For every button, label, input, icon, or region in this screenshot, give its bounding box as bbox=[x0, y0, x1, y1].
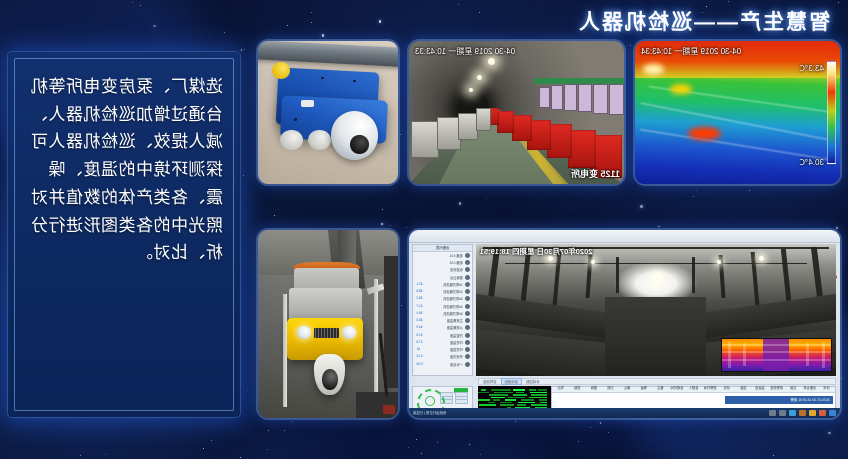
device-label: 1#带式输送机 bbox=[443, 282, 462, 287]
log-line-segment bbox=[540, 402, 547, 404]
star bbox=[401, 134, 402, 135]
temp-low-label: 30.4℃ bbox=[799, 158, 824, 167]
device-status-icon bbox=[465, 362, 470, 367]
star bbox=[224, 32, 225, 33]
log-line-segment bbox=[530, 392, 547, 394]
log-line-segment bbox=[518, 402, 535, 404]
log-line-segment bbox=[516, 392, 525, 394]
toolbar-realtime[interactable]: 手动控制 bbox=[526, 379, 540, 384]
star bbox=[728, 1, 729, 2]
log-line-segment bbox=[481, 389, 486, 391]
star bbox=[693, 196, 694, 197]
star bbox=[379, 20, 381, 22]
os-taskbar[interactable]: 系统运行正常 | 已连接 bbox=[409, 408, 840, 418]
log-line-segment bbox=[494, 392, 513, 394]
tunnel-image: 04-30 2019 星期一 10:43:33 1125 变电所 bbox=[409, 41, 624, 184]
star bbox=[390, 225, 391, 226]
sensor-grill bbox=[314, 328, 339, 338]
star bbox=[406, 227, 407, 228]
log-line-segment bbox=[521, 399, 534, 401]
log-line-segment bbox=[538, 389, 547, 391]
app-icon[interactable] bbox=[799, 410, 806, 416]
device-value: 31.5 bbox=[416, 333, 422, 337]
device-value: 27.8 bbox=[416, 340, 422, 344]
start-icon[interactable] bbox=[829, 410, 836, 416]
star bbox=[401, 305, 402, 306]
thermal-timestamp: 04-30 2019 星期一 10:43:34 bbox=[641, 46, 741, 57]
device-value: 35.2 bbox=[416, 296, 422, 300]
device-value: 48.3 bbox=[416, 318, 422, 322]
star bbox=[408, 447, 409, 448]
device-status-icon bbox=[465, 318, 470, 323]
device-status-icon bbox=[465, 347, 470, 352]
device-label: 环境湿度 bbox=[450, 347, 463, 352]
device-list-header: 设备列表 bbox=[413, 245, 471, 251]
star bbox=[244, 49, 245, 50]
star bbox=[247, 390, 248, 391]
star bbox=[658, 226, 660, 228]
table-header-cell: 温度值 bbox=[752, 387, 769, 392]
card-thermal-camera[interactable]: 43.3℃ 30.4℃ 04-30 2019 星期一 10:43:34 bbox=[635, 41, 840, 184]
log-line-segment bbox=[500, 404, 514, 406]
star bbox=[696, 190, 697, 191]
device-row[interactable]: 托辊温度31.5 bbox=[415, 333, 469, 339]
headlamp-icon bbox=[342, 326, 356, 339]
log-line-segment bbox=[531, 404, 547, 406]
table-header-cell: 湿度 bbox=[735, 387, 752, 392]
star bbox=[421, 453, 422, 454]
log-line-segment bbox=[508, 397, 525, 399]
table-header-cell: 确认 bbox=[619, 387, 636, 392]
thermal-inset[interactable] bbox=[721, 338, 833, 372]
tunnel-timestamp: 04-30 2019 星期一 10:43:33 bbox=[415, 46, 515, 57]
log-line-segment bbox=[500, 402, 513, 404]
app-icon[interactable] bbox=[769, 410, 776, 416]
temp-high-label: 43.3℃ bbox=[799, 64, 824, 73]
video-feed[interactable]: 2020年07月30日 星期四 18:19:51 bbox=[476, 244, 836, 376]
card-monitoring-software[interactable]: 文件 设置 视图 帮助 主页 视频 报警 记录 系统 bbox=[409, 230, 840, 418]
log-line-segment bbox=[478, 399, 490, 401]
toolbar-auto[interactable]: 自动巡检 bbox=[501, 378, 523, 385]
table-header-cell: 状态 bbox=[718, 387, 735, 392]
log-line-segment bbox=[491, 389, 510, 391]
log-line-segment bbox=[479, 404, 496, 406]
device-row[interactable]: 环境湿度61 bbox=[415, 347, 469, 353]
star bbox=[459, 202, 461, 204]
device-status-icon bbox=[465, 340, 470, 345]
tunnel-location-label: 1125 变电所 bbox=[571, 167, 620, 180]
star bbox=[828, 432, 830, 434]
star bbox=[515, 421, 516, 422]
pad-button[interactable] bbox=[455, 399, 468, 404]
star bbox=[291, 421, 292, 422]
device-label: 从滚筒温度 bbox=[447, 325, 463, 330]
device-status-icon bbox=[465, 311, 470, 316]
log-line-segment bbox=[491, 397, 505, 399]
device-label: 5#带式输送机 bbox=[443, 311, 462, 316]
star bbox=[241, 49, 243, 51]
device-value: 42.1 bbox=[416, 282, 422, 286]
table-header-row: 序号设备名称位置报警类型温度值湿度状态报警时间处理人处理时间备注等级确认归档图像… bbox=[552, 387, 834, 393]
device-label: 2#带式输送机 bbox=[443, 289, 462, 294]
device-status-icon bbox=[465, 275, 470, 280]
card-yellow-robot[interactable] bbox=[258, 230, 398, 418]
toolbar-manual[interactable]: 实时巡检 bbox=[483, 379, 497, 384]
description-panel-inner: 选煤厂、泵房变电所等机台通过增加巡检机器人、减人提效、巡检机器人可探测环境中的温… bbox=[14, 58, 234, 411]
star bbox=[416, 439, 417, 440]
log-line-segment bbox=[478, 392, 489, 394]
log-line-segment bbox=[489, 394, 508, 396]
table-header-cell: 图像 bbox=[586, 387, 603, 392]
star bbox=[773, 455, 774, 456]
device-status-icon bbox=[465, 267, 470, 272]
star bbox=[381, 223, 383, 225]
log-line-segment bbox=[529, 397, 547, 399]
device-row[interactable]: 从滚筒温度44.9 bbox=[415, 325, 469, 331]
star bbox=[437, 442, 438, 443]
device-label: 轨道状态 bbox=[450, 267, 463, 272]
table-header-cell: 归档 bbox=[602, 387, 619, 392]
device-value: 38.6 bbox=[416, 289, 422, 293]
table-header-cell: 导出 bbox=[552, 387, 569, 392]
log-line-segment bbox=[529, 389, 536, 391]
star bbox=[140, 5, 141, 6]
star bbox=[479, 12, 480, 13]
star bbox=[469, 444, 471, 446]
star bbox=[287, 25, 288, 26]
star bbox=[311, 22, 312, 23]
star bbox=[153, 25, 155, 27]
page-title: 智慧生产——巡检机器人 bbox=[577, 6, 830, 36]
app-icon[interactable] bbox=[779, 410, 786, 416]
star bbox=[590, 427, 591, 428]
table-header-cell: 报警时间 bbox=[702, 387, 719, 392]
card-substation-tunnel[interactable]: 04-30 2019 星期一 10:43:33 1125 变电所 bbox=[409, 41, 624, 184]
device-row[interactable]: 轨道状态 bbox=[415, 267, 469, 273]
device-row[interactable]: 环境温度27.8 bbox=[415, 340, 469, 346]
device-row[interactable]: 1#带式输送机42.1 bbox=[415, 282, 469, 288]
star bbox=[105, 454, 106, 455]
app-icon[interactable] bbox=[819, 410, 826, 416]
inspection-toolbar[interactable]: 手动控制 自动巡检 实时巡检 bbox=[478, 378, 836, 386]
hot-spot bbox=[670, 84, 693, 94]
description-panel: 选煤厂、泵房变电所等机台通过增加巡检机器人、减人提效、巡检机器人可探测环境中的温… bbox=[8, 52, 240, 417]
device-label: 托辊温度 bbox=[450, 333, 463, 338]
star bbox=[608, 432, 609, 433]
table-header-cell: 设备名称 bbox=[801, 387, 818, 392]
star bbox=[268, 430, 269, 431]
star bbox=[311, 12, 312, 13]
table-header-cell: 报警类型 bbox=[768, 387, 785, 392]
device-label: 机器人01 bbox=[450, 253, 463, 258]
table-header-cell: 等级 bbox=[635, 387, 652, 392]
device-row[interactable]: 一氧化碳0.00 bbox=[415, 362, 469, 368]
star bbox=[630, 45, 631, 46]
device-label: 3#带式输送机 bbox=[443, 296, 462, 301]
app-icon[interactable] bbox=[789, 410, 796, 416]
device-label: 摄像云台 bbox=[450, 275, 463, 280]
star bbox=[274, 215, 275, 216]
log-line-segment bbox=[488, 402, 495, 404]
star bbox=[458, 4, 459, 5]
device-row[interactable]: 3#带式输送机35.2 bbox=[415, 296, 469, 302]
device-label: 主滚筒温度 bbox=[447, 318, 463, 323]
device-value: 0.00 bbox=[416, 362, 422, 366]
table-header-cell: 位置 bbox=[785, 387, 802, 392]
device-row[interactable]: 2#带式输送机38.6 bbox=[415, 289, 469, 295]
star bbox=[600, 422, 602, 424]
device-value: 44.9 bbox=[416, 325, 422, 329]
star bbox=[203, 448, 204, 449]
card-blue-robot[interactable] bbox=[258, 41, 398, 184]
device-row[interactable]: 机器人01 bbox=[415, 253, 469, 259]
camera-lens-icon bbox=[350, 135, 368, 154]
camera-lens-icon bbox=[322, 369, 337, 390]
presentation-slide: 智慧生产——巡检机器人 43.3℃ 30.4℃ 04-30 2019 星期一 1… bbox=[0, 0, 848, 459]
device-list-title: 设备列表 bbox=[436, 245, 450, 250]
device-label: 机器人02 bbox=[450, 260, 463, 265]
star bbox=[382, 209, 383, 210]
log-line-segment bbox=[513, 394, 528, 396]
log-line-segment bbox=[517, 404, 526, 406]
device-label: 环境温度 bbox=[450, 340, 463, 345]
temperature-scale bbox=[827, 61, 836, 164]
star bbox=[243, 175, 244, 176]
device-label: 甲烷浓度 bbox=[450, 354, 463, 359]
device-row[interactable]: 5#带式输送机36.4 bbox=[415, 311, 469, 317]
software-window: 文件 设置 视图 帮助 主页 视频 报警 记录 系统 bbox=[409, 230, 840, 418]
table-header-cell: 处理时间 bbox=[669, 387, 686, 392]
video-timestamp: 2020年07月30日 星期四 18:19:51 bbox=[480, 246, 593, 257]
device-status-icon bbox=[465, 354, 470, 359]
yellow-robot-image bbox=[258, 230, 398, 418]
device-status-icon bbox=[465, 296, 470, 301]
star bbox=[132, 2, 133, 3]
mirrored-content: 智慧生产——巡检机器人 43.3℃ 30.4℃ 04-30 2019 星期一 1… bbox=[0, 0, 848, 459]
device-row[interactable]: 甲烷浓度0.12 bbox=[415, 354, 469, 360]
star bbox=[322, 34, 324, 36]
log-line-segment bbox=[493, 399, 500, 401]
table-header-cell: 视频 bbox=[569, 387, 586, 392]
taskbar-status: 系统运行正常 | 已连接 bbox=[413, 410, 446, 415]
device-value: 41.7 bbox=[416, 304, 422, 308]
star bbox=[480, 454, 481, 455]
window-titlebar bbox=[409, 230, 840, 243]
star bbox=[80, 455, 81, 456]
device-row[interactable]: 4#带式输送机41.7 bbox=[415, 304, 469, 310]
description-text: 选煤厂、泵房变电所等机台通过增加巡检机器人、减人提效、巡检机器人可探测环境中的温… bbox=[25, 73, 223, 267]
thermal-image: 43.3℃ 30.4℃ 04-30 2019 星期一 10:43:34 bbox=[635, 41, 840, 184]
star bbox=[240, 457, 241, 458]
star bbox=[486, 198, 487, 199]
device-value: 0.12 bbox=[416, 354, 422, 358]
device-status-icon bbox=[465, 282, 470, 287]
table-header-cell: 备注 bbox=[652, 387, 669, 392]
device-row[interactable]: 机器人02 bbox=[415, 260, 469, 266]
table-header-cell: 序号 bbox=[818, 387, 835, 392]
hot-spot bbox=[643, 64, 664, 75]
table-header-cell: 处理人 bbox=[685, 387, 702, 392]
log-line-segment bbox=[531, 394, 548, 396]
star bbox=[578, 441, 579, 442]
device-label: 一氧化碳 bbox=[450, 362, 463, 367]
star bbox=[838, 2, 839, 3]
app-icon[interactable] bbox=[809, 410, 816, 416]
table-row[interactable]: 2020-07-30 18:19:51 报警 bbox=[725, 396, 832, 404]
device-label: 4#带式输送机 bbox=[443, 304, 462, 309]
star bbox=[284, 430, 285, 431]
log-line-segment bbox=[513, 389, 525, 391]
hot-spot bbox=[688, 127, 721, 140]
star bbox=[640, 205, 642, 207]
device-status-icon bbox=[465, 289, 470, 294]
star bbox=[836, 227, 838, 229]
device-row[interactable]: 摄像云台 bbox=[415, 275, 469, 281]
log-line-segment bbox=[539, 399, 547, 401]
log-line-segment bbox=[505, 399, 516, 401]
star bbox=[211, 440, 212, 441]
device-status-icon bbox=[465, 253, 470, 258]
device-status-icon bbox=[465, 333, 470, 338]
star bbox=[267, 449, 268, 450]
device-status-icon bbox=[465, 325, 470, 330]
blue-robot-image bbox=[258, 41, 398, 184]
device-status-icon bbox=[465, 304, 470, 309]
star bbox=[841, 378, 842, 379]
device-row[interactable]: 主滚筒温度48.3 bbox=[415, 318, 469, 324]
device-list-panel[interactable]: 设备列表 机器人01机器人02轨道状态摄像云台1#带式输送机42.12#带式输送… bbox=[412, 244, 472, 376]
device-status-icon bbox=[465, 260, 470, 265]
device-value: 36.4 bbox=[416, 311, 422, 315]
star bbox=[750, 190, 751, 191]
device-value: 61 bbox=[416, 347, 420, 351]
